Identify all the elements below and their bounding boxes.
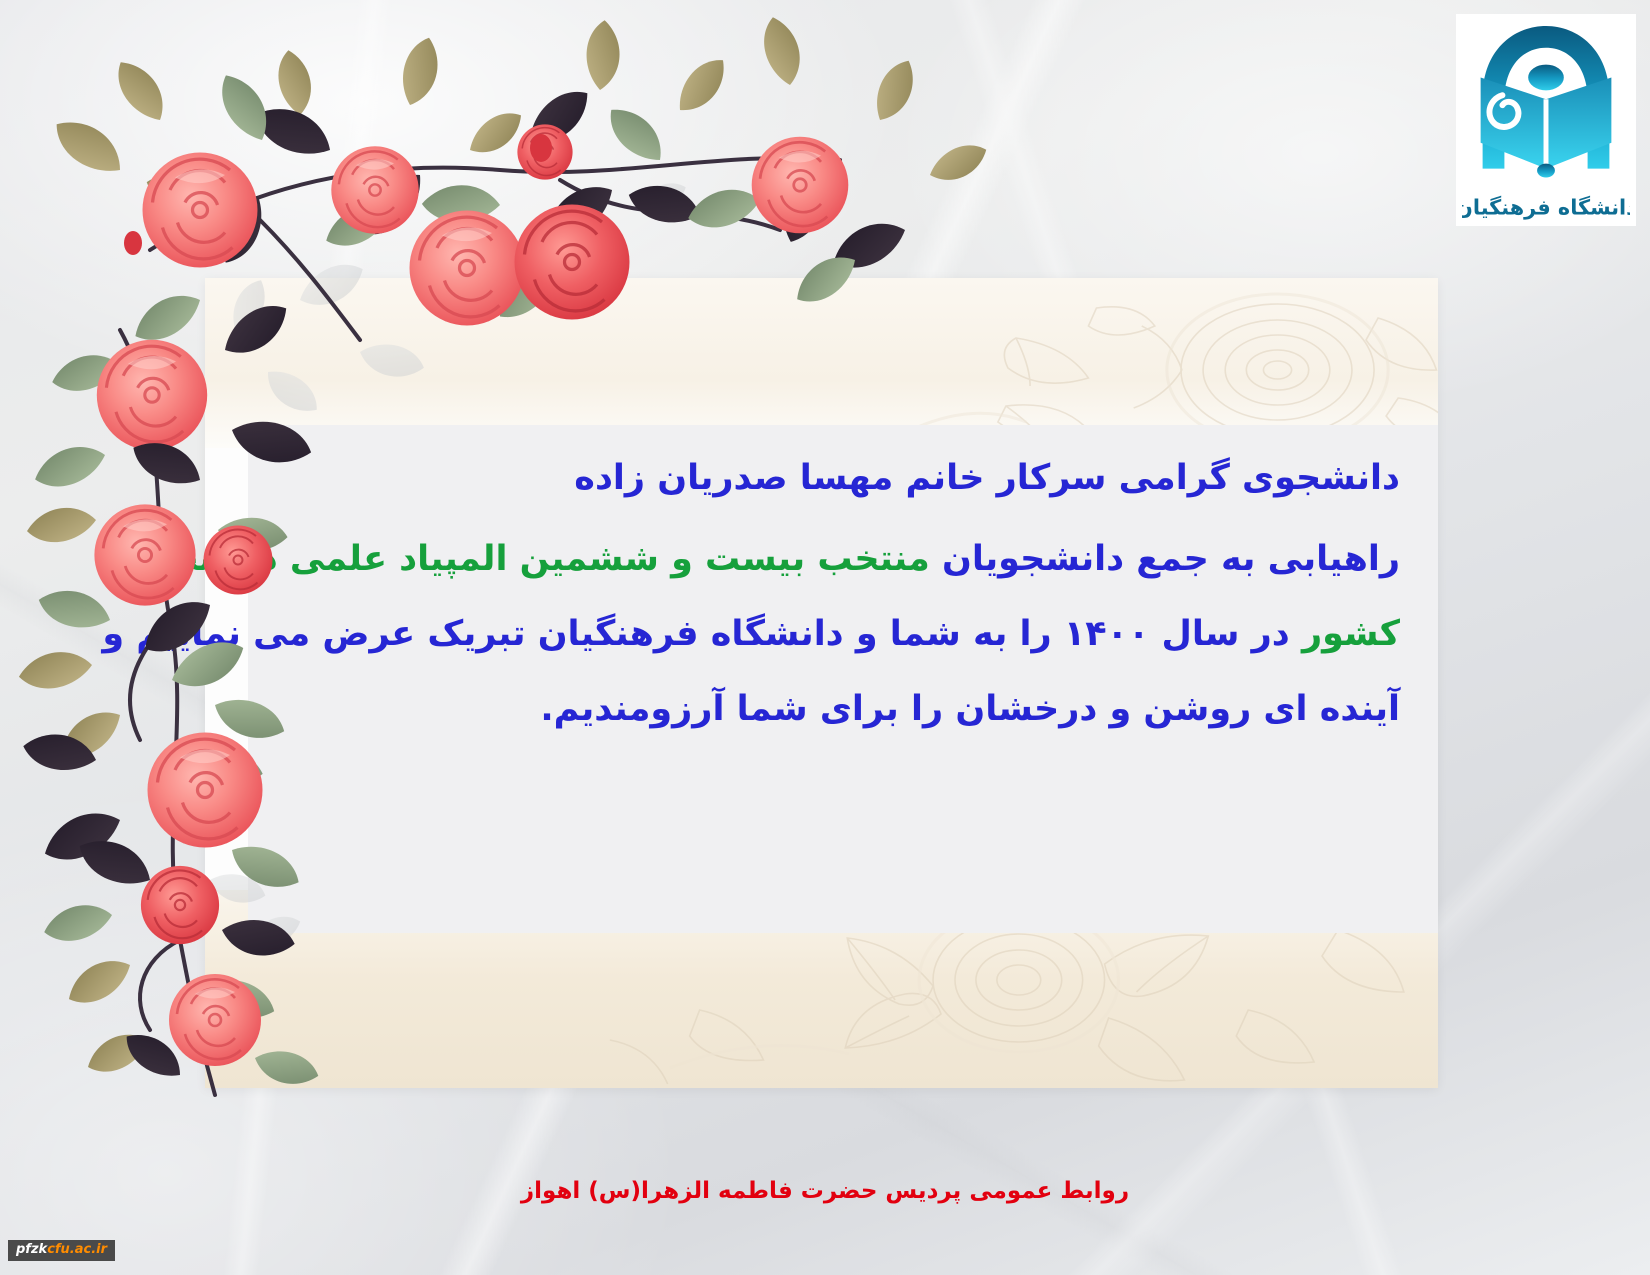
university-emblem-icon [1462, 20, 1630, 186]
farhangian-university-logo: دانشگاه فرهنگیان [1456, 14, 1636, 226]
svg-text:دانشگاه فرهنگیان: دانشگاه فرهنگیان [1462, 196, 1630, 220]
message-line-1: دانشجوی گرامی سرکار خانم مهسا صدریان زاد… [276, 461, 1400, 496]
message-line-4: آینده ای روشن و درخشان را برای شما آرزوم… [276, 692, 1400, 727]
message-line-3-green: کشور [1302, 614, 1400, 654]
message-line-2-blue: راهیابی به جمع دانشجویان [930, 539, 1400, 579]
watermark-suffix: cfu.ac.ir [47, 1242, 107, 1257]
university-name-calligraphy: دانشگاه فرهنگیان [1462, 186, 1630, 226]
embossed-rose-pattern-top [674, 278, 1438, 448]
message-line-2-green: منتخب بیست و ششمین المپیاد علمی دانشجویا… [96, 539, 930, 579]
message-line-1-text: دانشجوی گرامی سرکار خانم مهسا صدریان زاد… [574, 458, 1400, 498]
message-line-3-blue: در سال ۱۴۰۰ را به شما و دانشگاه فرهنگیان… [102, 614, 1302, 654]
message-line-4-text: آینده ای روشن و درخشان را برای شما آرزوم… [540, 689, 1400, 729]
message-line-2: راهیابی به جمع دانشجویان منتخب بیست و شش… [276, 542, 1400, 577]
message-panel: دانشجوی گرامی سرکار خانم مهسا صدریان زاد… [248, 425, 1438, 933]
message-line-3: کشور در سال ۱۴۰۰ را به شما و دانشگاه فره… [276, 617, 1400, 652]
footer-credit: روابط عمومی پردیس حضرت فاطمه الزهرا(س) ا… [0, 1178, 1650, 1204]
watermark-prefix: pfzk [16, 1242, 47, 1257]
card-top-beige-band [205, 278, 1438, 448]
site-watermark: pfzkcfu.ac.ir [8, 1240, 115, 1261]
